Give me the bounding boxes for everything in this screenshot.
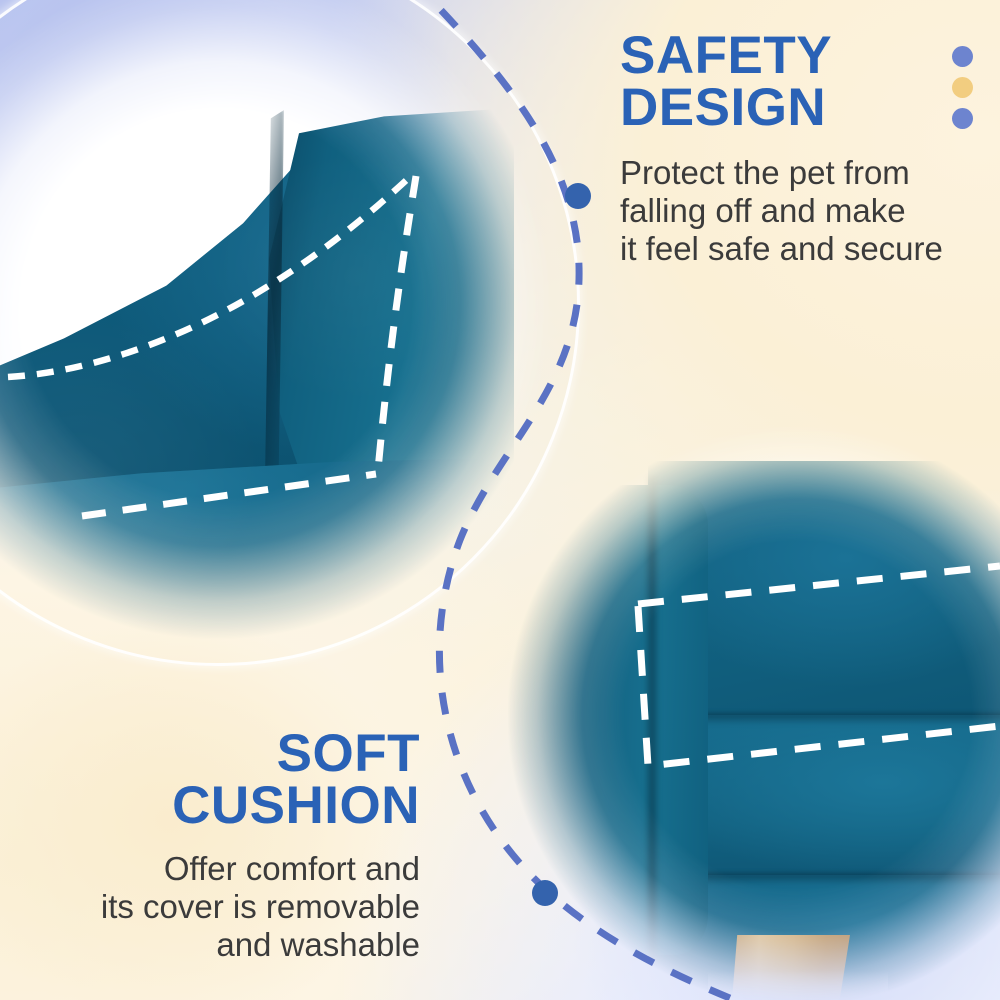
dot-tan-middle-icon <box>952 77 973 98</box>
safety-design-body-line-2: falling off and make <box>620 192 988 230</box>
feature-safety-design: SAFETY DESIGN Protect the pet from falli… <box>620 30 988 269</box>
dot-blue-bottom-icon <box>952 108 973 129</box>
soft-cushion-body-line-1: Offer comfort and <box>10 850 420 888</box>
soft-cushion-body: Offer comfort and its cover is removable… <box>10 850 420 965</box>
safety-design-body: Protect the pet from falling off and mak… <box>620 154 988 269</box>
safety-design-body-line-1: Protect the pet from <box>620 154 988 192</box>
feature-infographic: SAFETY DESIGN Protect the pet from falli… <box>0 0 1000 1000</box>
safety-design-heading: SAFETY DESIGN <box>620 30 988 134</box>
safety-design-heading-line-1: SAFETY <box>620 30 988 82</box>
dot-blue-top-icon <box>952 46 973 67</box>
soft-cushion-body-line-3: and washable <box>10 926 420 964</box>
decor-dot-stack <box>952 46 973 129</box>
soft-cushion-body-line-2: its cover is removable <box>10 888 420 926</box>
safety-design-body-line-3: it feel safe and secure <box>620 230 988 268</box>
safety-design-heading-line-2: DESIGN <box>620 82 988 134</box>
feature-soft-cushion: SOFT CUSHION Offer comfort and its cover… <box>10 728 420 965</box>
connector-dot-upper <box>565 183 591 209</box>
soft-cushion-heading-line-1: SOFT <box>10 728 420 780</box>
soft-cushion-heading-line-2: CUSHION <box>10 780 420 832</box>
connector-dot-lower <box>532 880 558 906</box>
soft-cushion-heading: SOFT CUSHION <box>10 728 420 832</box>
